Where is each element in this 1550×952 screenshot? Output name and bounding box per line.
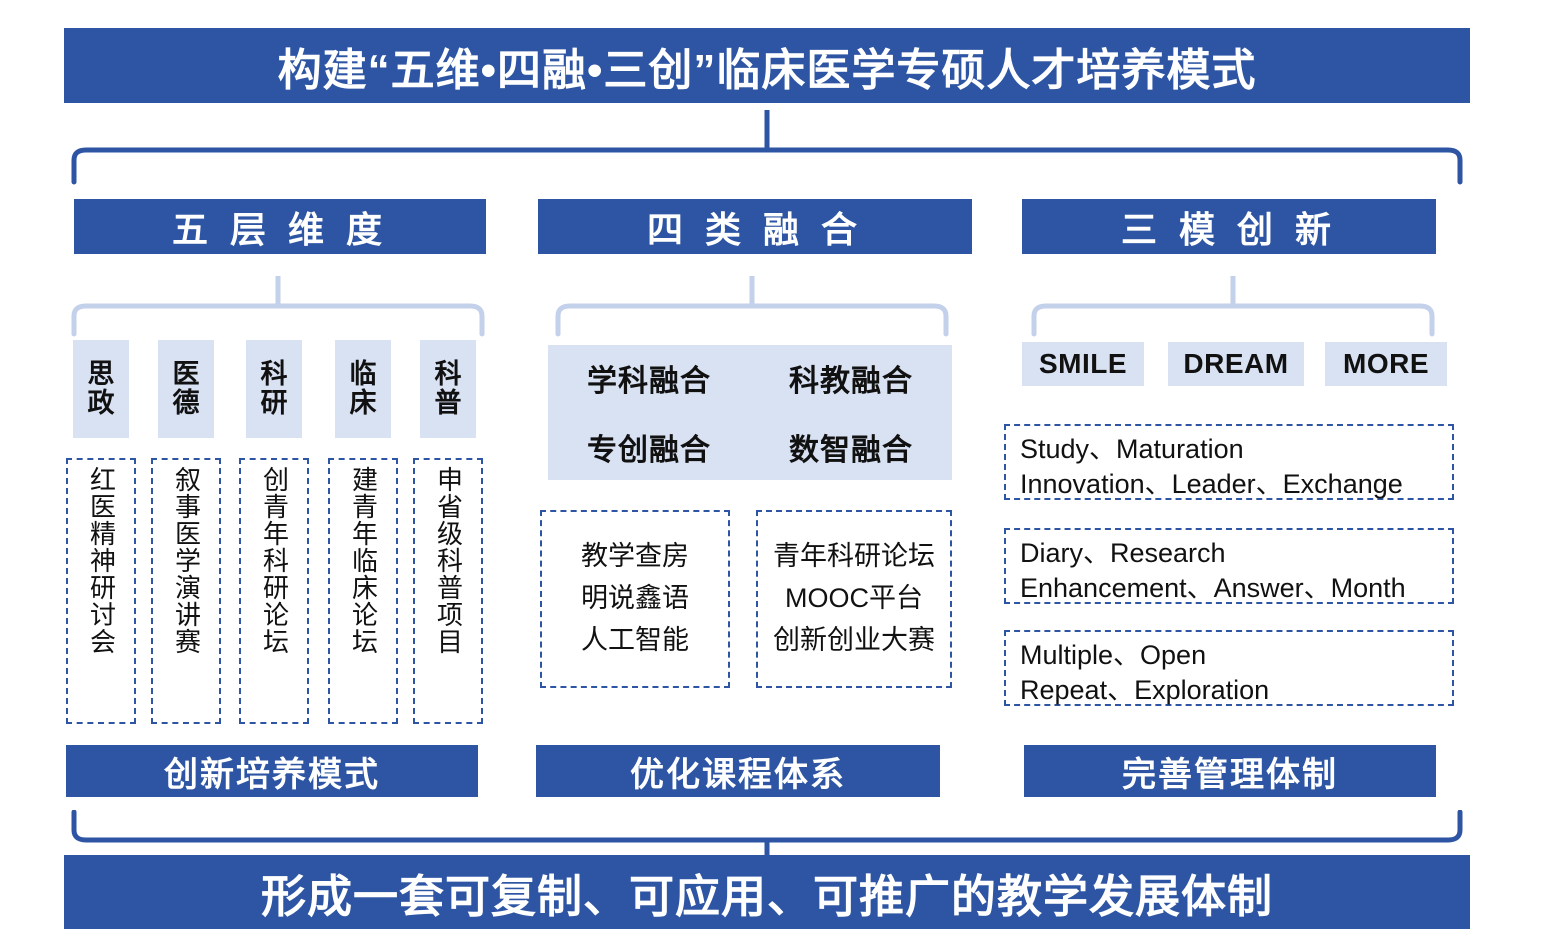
fusion-detail-1-line-2: 创新创业大赛 <box>773 620 935 662</box>
dimension-detail-box-4[interactable]: 申省级科普项目 <box>413 458 483 724</box>
dimension-chip-3: 临 床 <box>335 340 391 438</box>
section-header-three-models: 三 模 创 新 <box>1022 199 1436 254</box>
dimension-chip-3-top: 临 <box>350 360 377 389</box>
top-bracket-connector <box>64 110 1470 185</box>
fusion-detail-box-0[interactable]: 教学查房 明说鑫语 人工智能 <box>540 510 730 688</box>
dimension-chip-1-top: 医 <box>173 360 200 389</box>
dimension-chip-4-bottom: 普 <box>435 389 462 418</box>
sub-bracket-four-fusions <box>552 276 952 338</box>
fusion-detail-0-line-1: 明说鑫语 <box>581 578 689 620</box>
dimension-column-3[interactable]: 临 床 <box>335 340 391 438</box>
dimension-chip-1-bottom: 德 <box>173 389 200 418</box>
dimension-detail-text-2: 创青年科研论坛 <box>260 466 287 655</box>
fusion-detail-1-line-0: 青年科研论坛 <box>773 536 935 578</box>
dimension-detail-box-3[interactable]: 建青年临床论坛 <box>328 458 398 724</box>
dimension-chip-2: 科 研 <box>246 340 302 438</box>
model-more-line-1: Repeat、Exploration <box>1020 673 1440 708</box>
bottom-banner: 形成一套可复制、可应用、可推广的教学发展体制 <box>64 855 1470 929</box>
dimension-detail-text-4: 申省级科普项目 <box>434 466 461 655</box>
model-chip-dream[interactable]: DREAM <box>1168 342 1304 386</box>
fusion-panel: 学科融合 科教融合 专创融合 数智融合 <box>548 345 952 480</box>
footer-bar-improve-management: 完善管理体制 <box>1024 745 1436 797</box>
model-detail-box-dream[interactable]: Diary、Research Enhancement、Answer、Month <box>1004 528 1454 604</box>
fusion-item-2: 专创融合 <box>587 425 711 469</box>
dimension-chip-1: 医 德 <box>158 340 214 438</box>
footer-bar-innovative-training: 创新培养模式 <box>66 745 478 797</box>
fusion-item-3: 数智融合 <box>789 425 913 469</box>
dimension-detail-text-0: 红医精神研讨会 <box>87 466 114 655</box>
fusion-detail-1-line-1: MOOC平台 <box>785 578 923 620</box>
model-detail-box-smile[interactable]: Study、Maturation Innovation、Leader、Excha… <box>1004 424 1454 500</box>
dimension-column-2[interactable]: 科 研 <box>246 340 302 438</box>
dimension-detail-box-1[interactable]: 叙事医学演讲赛 <box>151 458 221 724</box>
fusion-detail-box-1[interactable]: 青年科研论坛 MOOC平台 创新创业大赛 <box>756 510 952 688</box>
dimension-column-4[interactable]: 科 普 <box>420 340 476 438</box>
dimension-chip-3-bottom: 床 <box>350 389 377 418</box>
diagram-canvas: 构建“五维•四融•三创”临床医学专硕人才培养模式 五 层 维 度 四 类 融 合… <box>0 0 1550 952</box>
page-title: 构建“五维•四融•三创”临床医学专硕人才培养模式 <box>64 28 1470 103</box>
dimension-chip-4: 科 普 <box>420 340 476 438</box>
model-smile-line-0: Study、Maturation <box>1020 432 1440 467</box>
dimension-detail-box-2[interactable]: 创青年科研论坛 <box>239 458 309 724</box>
fusion-detail-0-line-0: 教学查房 <box>581 536 689 578</box>
model-chip-smile[interactable]: SMILE <box>1022 342 1144 386</box>
footer-bar-optimize-curriculum: 优化课程体系 <box>536 745 940 797</box>
dimension-column-1[interactable]: 医 德 <box>158 340 214 438</box>
model-dream-line-1: Enhancement、Answer、Month <box>1020 571 1440 606</box>
model-detail-box-more[interactable]: Multiple、Open Repeat、Exploration <box>1004 630 1454 706</box>
sub-bracket-five-dimensions <box>68 276 488 338</box>
dimension-chip-2-top: 科 <box>261 360 288 389</box>
fusion-item-0: 学科融合 <box>587 356 711 400</box>
fusion-item-1: 科教融合 <box>789 356 913 400</box>
bottom-bracket-connector <box>64 810 1470 858</box>
dimension-chip-2-bottom: 研 <box>261 389 288 418</box>
dimension-column-0[interactable]: 思 政 <box>73 340 129 438</box>
model-more-line-0: Multiple、Open <box>1020 638 1440 673</box>
model-dream-line-0: Diary、Research <box>1020 536 1440 571</box>
dimension-chip-0-top: 思 <box>88 360 115 389</box>
dimension-chip-0-bottom: 政 <box>88 389 115 418</box>
dimension-detail-text-1: 叙事医学演讲赛 <box>172 466 199 655</box>
section-header-five-dimensions: 五 层 维 度 <box>74 199 486 254</box>
model-smile-line-1: Innovation、Leader、Exchange <box>1020 467 1440 502</box>
fusion-detail-0-line-2: 人工智能 <box>581 620 689 662</box>
model-chip-more[interactable]: MORE <box>1325 342 1447 386</box>
sub-bracket-three-models <box>1028 276 1438 338</box>
section-header-four-fusions: 四 类 融 合 <box>538 199 972 254</box>
dimension-detail-box-0[interactable]: 红医精神研讨会 <box>66 458 136 724</box>
dimension-detail-text-3: 建青年临床论坛 <box>349 466 376 655</box>
dimension-chip-0: 思 政 <box>73 340 129 438</box>
dimension-chip-4-top: 科 <box>435 360 462 389</box>
